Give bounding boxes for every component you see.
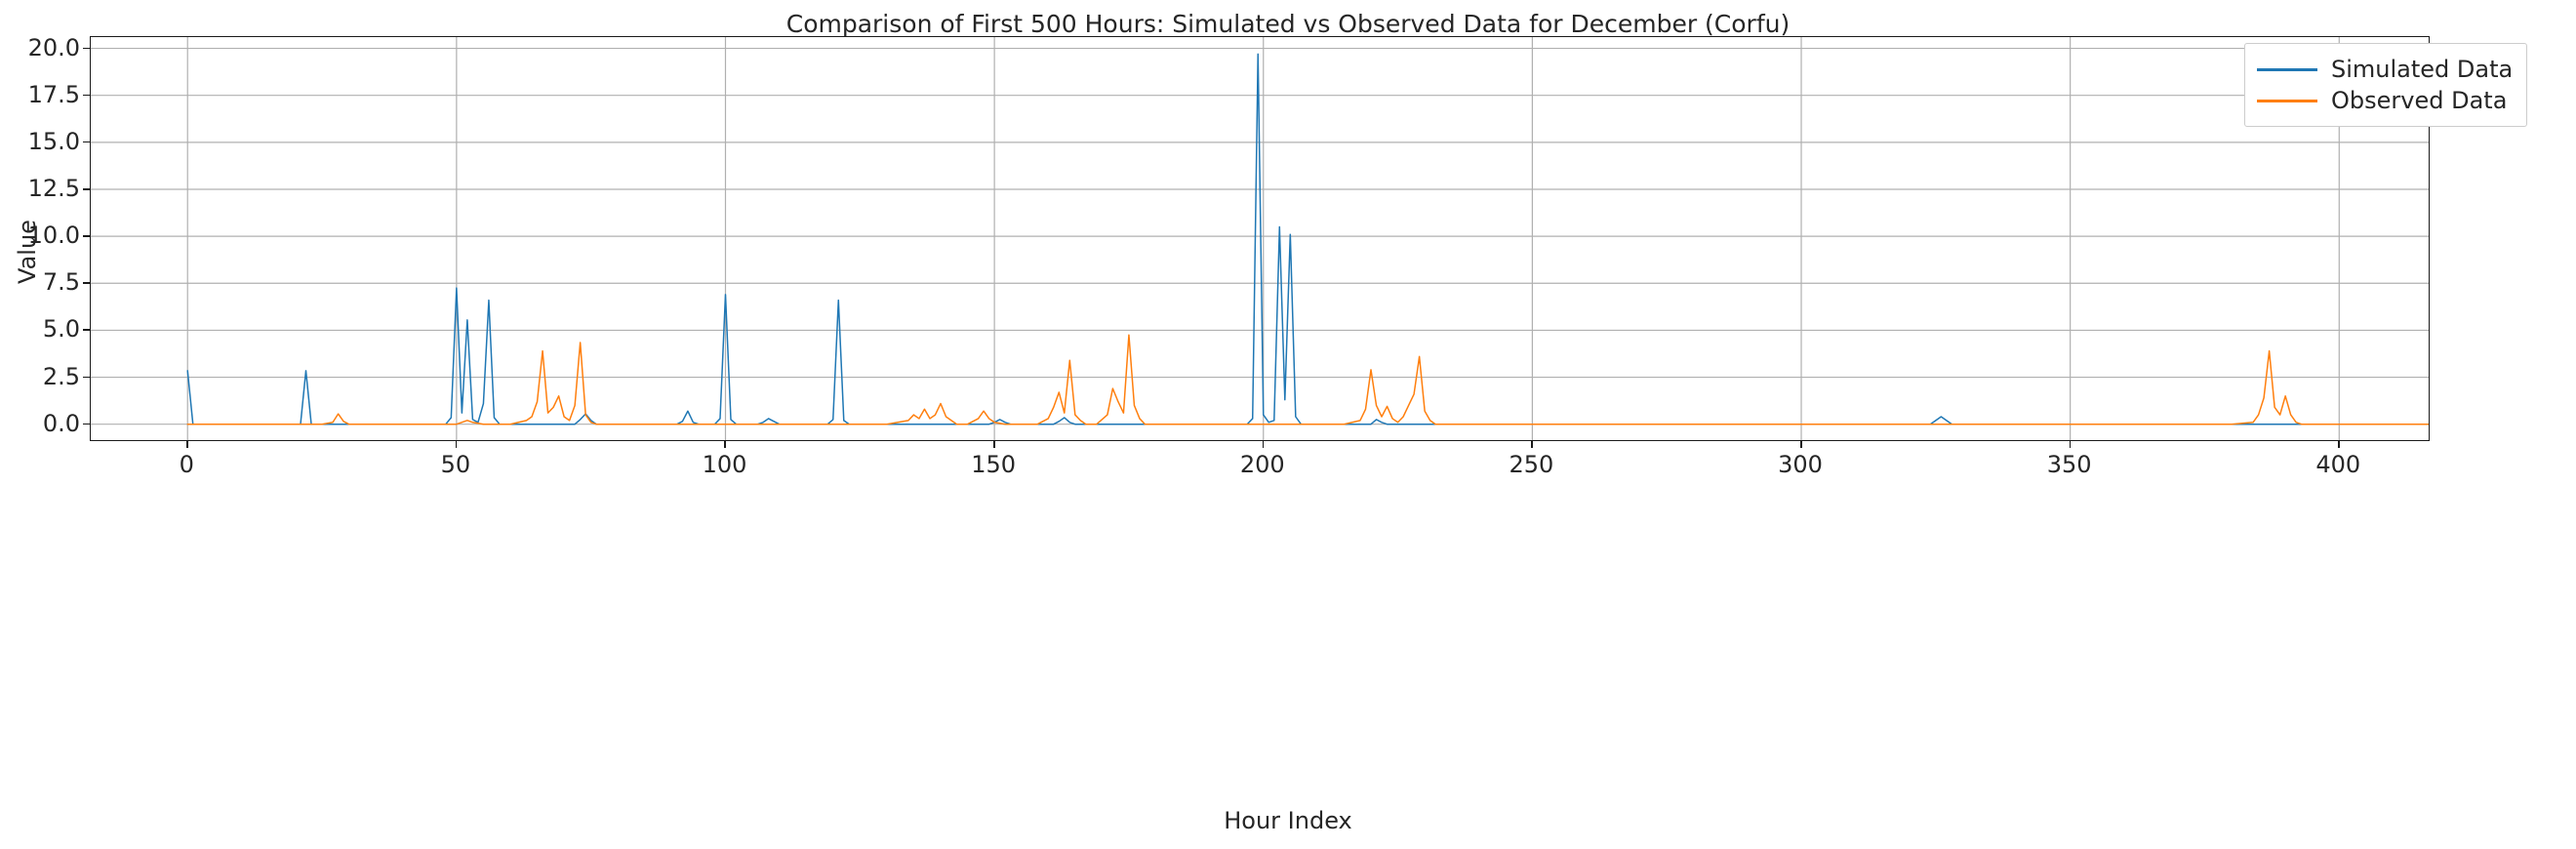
x-tick-label: 200 xyxy=(1240,451,1285,478)
y-tick-mark xyxy=(83,377,90,379)
x-tick-mark xyxy=(1263,441,1265,448)
y-tick-mark xyxy=(83,188,90,190)
x-tick-mark xyxy=(186,441,188,448)
y-tick-label: 10.0 xyxy=(0,222,80,249)
series-line-1 xyxy=(187,335,2430,424)
legend-color-swatch xyxy=(2257,68,2317,71)
legend-color-swatch xyxy=(2257,100,2317,102)
y-tick-label: 20.0 xyxy=(0,34,80,61)
x-tick-label: 50 xyxy=(441,451,471,478)
chart-title: Comparison of First 500 Hours: Simulated… xyxy=(0,10,2576,38)
x-tick-mark xyxy=(456,441,458,448)
x-tick-mark xyxy=(993,441,995,448)
y-tick-label: 7.5 xyxy=(0,268,80,296)
y-tick-mark xyxy=(83,95,90,97)
plot-area xyxy=(90,36,2430,441)
y-tick-mark xyxy=(83,282,90,284)
x-axis-label: Hour Index xyxy=(0,807,2576,834)
x-tick-mark xyxy=(1531,441,1533,448)
chart-figure: Comparison of First 500 Hours: Simulated… xyxy=(0,0,2576,849)
legend-label: Simulated Data xyxy=(2331,56,2513,83)
y-tick-label: 12.5 xyxy=(0,175,80,202)
y-tick-mark xyxy=(83,329,90,331)
y-tick-label: 17.5 xyxy=(0,81,80,108)
y-tick-label: 5.0 xyxy=(0,315,80,343)
x-tick-label: 300 xyxy=(1778,451,1823,478)
chart-legend[interactable]: Simulated DataObserved Data xyxy=(2244,43,2527,127)
y-tick-label: 15.0 xyxy=(0,128,80,155)
x-tick-label: 400 xyxy=(2315,451,2360,478)
x-tick-label: 0 xyxy=(180,451,194,478)
x-tick-label: 250 xyxy=(1509,451,1553,478)
y-tick-mark xyxy=(83,141,90,143)
y-tick-label: 0.0 xyxy=(0,410,80,437)
series-line-0 xyxy=(187,54,2430,424)
legend-item-1[interactable]: Observed Data xyxy=(2257,85,2513,116)
x-tick-mark xyxy=(2338,441,2340,448)
y-tick-label: 2.5 xyxy=(0,363,80,390)
legend-label: Observed Data xyxy=(2331,87,2507,114)
x-tick-mark xyxy=(1800,441,1802,448)
plot-svg xyxy=(91,37,2430,441)
x-tick-label: 100 xyxy=(703,451,747,478)
y-tick-mark xyxy=(83,235,90,237)
x-tick-label: 150 xyxy=(971,451,1016,478)
y-tick-mark xyxy=(83,424,90,425)
x-tick-mark xyxy=(724,441,726,448)
x-tick-mark xyxy=(2070,441,2072,448)
legend-item-0[interactable]: Simulated Data xyxy=(2257,54,2513,85)
x-tick-label: 350 xyxy=(2047,451,2092,478)
y-tick-mark xyxy=(83,48,90,50)
